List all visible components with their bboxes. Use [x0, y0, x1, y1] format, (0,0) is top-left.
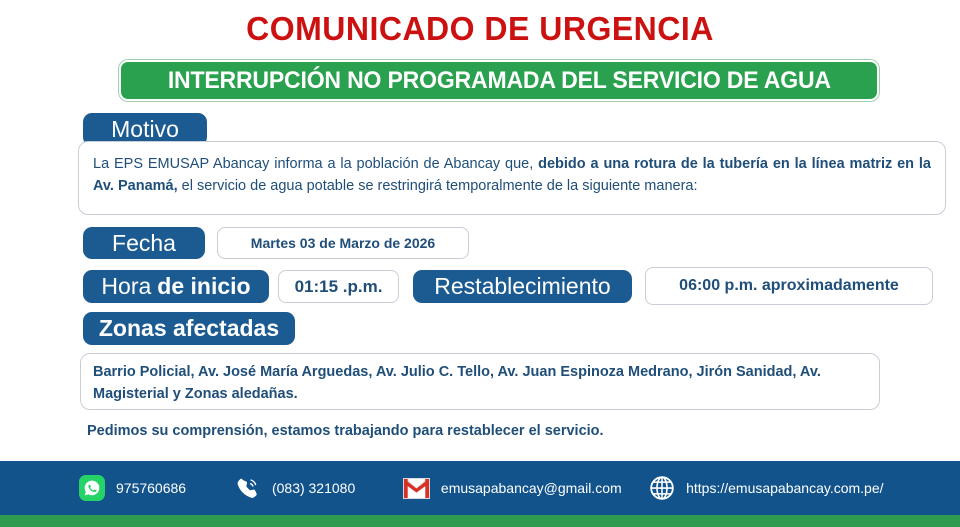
fecha-value-pill: Martes 03 de Marzo de 2026 — [217, 227, 469, 259]
website-url: https://emusapabancay.com.pe/ — [686, 480, 883, 496]
contact-whatsapp[interactable]: 975760686 — [78, 474, 234, 502]
hora-inicio-badge-label-light: Hora — [101, 275, 151, 298]
contact-phone[interactable]: (083) 321080 — [234, 474, 403, 502]
hora-inicio-badge-label-bold: de inicio — [157, 275, 250, 298]
phone-number: (083) 321080 — [272, 480, 355, 496]
service-interruption-banner: INTERRUPCIÓN NO PROGRAMADA DEL SERVICIO … — [119, 60, 879, 101]
motivo-text-part-1: La EPS EMUSAP Abancay informa a la pobla… — [93, 156, 538, 172]
contact-email[interactable]: emusapabancay@gmail.com — [403, 474, 648, 502]
restablecimiento-value-pill: 06:00 p.m. aproximadamente — [645, 267, 933, 305]
urgent-notice-poster: COMUNICADO DE URGENCIA INTERRUPCIÓN NO P… — [0, 0, 960, 527]
closing-message: Pedimos su comprensión, estamos trabajan… — [87, 423, 604, 439]
contact-footer: 975760686 (083) 321080 — [0, 461, 960, 527]
fecha-badge-label: Fecha — [112, 232, 176, 255]
page-title: COMUNICADO DE URGENCIA — [14, 10, 945, 48]
phone-icon — [234, 474, 262, 502]
restablecimiento-badge-label: Restablecimiento — [434, 275, 610, 298]
motivo-text-box: La EPS EMUSAP Abancay informa a la pobla… — [78, 141, 946, 215]
fecha-badge: Fecha — [83, 227, 205, 259]
zonas-afectadas-list: Barrio Policial, Av. José María Arguedas… — [93, 362, 867, 406]
zonas-afectadas-badge-label: Zonas afectadas — [99, 317, 279, 340]
contact-website[interactable]: https://emusapabancay.com.pe/ — [648, 474, 908, 502]
email-address: emusapabancay@gmail.com — [441, 480, 622, 496]
zonas-afectadas-text-box: Barrio Policial, Av. José María Arguedas… — [80, 353, 880, 410]
globe-icon — [648, 474, 676, 502]
motivo-paragraph: La EPS EMUSAP Abancay informa a la pobla… — [93, 153, 931, 198]
whatsapp-number: 975760686 — [116, 480, 186, 496]
footer-green-strip — [0, 515, 960, 527]
hora-inicio-badge: Horade inicio — [83, 270, 269, 303]
restablecimiento-badge: Restablecimiento — [413, 270, 632, 303]
hora-inicio-value-pill: 01:15 .p.m. — [278, 270, 399, 303]
fecha-value: Martes 03 de Marzo de 2026 — [251, 235, 435, 251]
whatsapp-icon — [78, 474, 106, 502]
motivo-badge-label: Motivo — [111, 118, 179, 141]
contact-list: 975760686 (083) 321080 — [0, 461, 960, 515]
hora-inicio-value: 01:15 .p.m. — [295, 277, 383, 297]
restablecimiento-value: 06:00 p.m. aproximadamente — [679, 277, 899, 295]
zonas-afectadas-badge: Zonas afectadas — [83, 312, 295, 345]
banner-text: INTERRUPCIÓN NO PROGRAMADA DEL SERVICIO … — [167, 67, 830, 95]
gmail-icon — [403, 474, 431, 502]
motivo-text-part-2: el servicio de agua potable se restringi… — [178, 178, 698, 194]
